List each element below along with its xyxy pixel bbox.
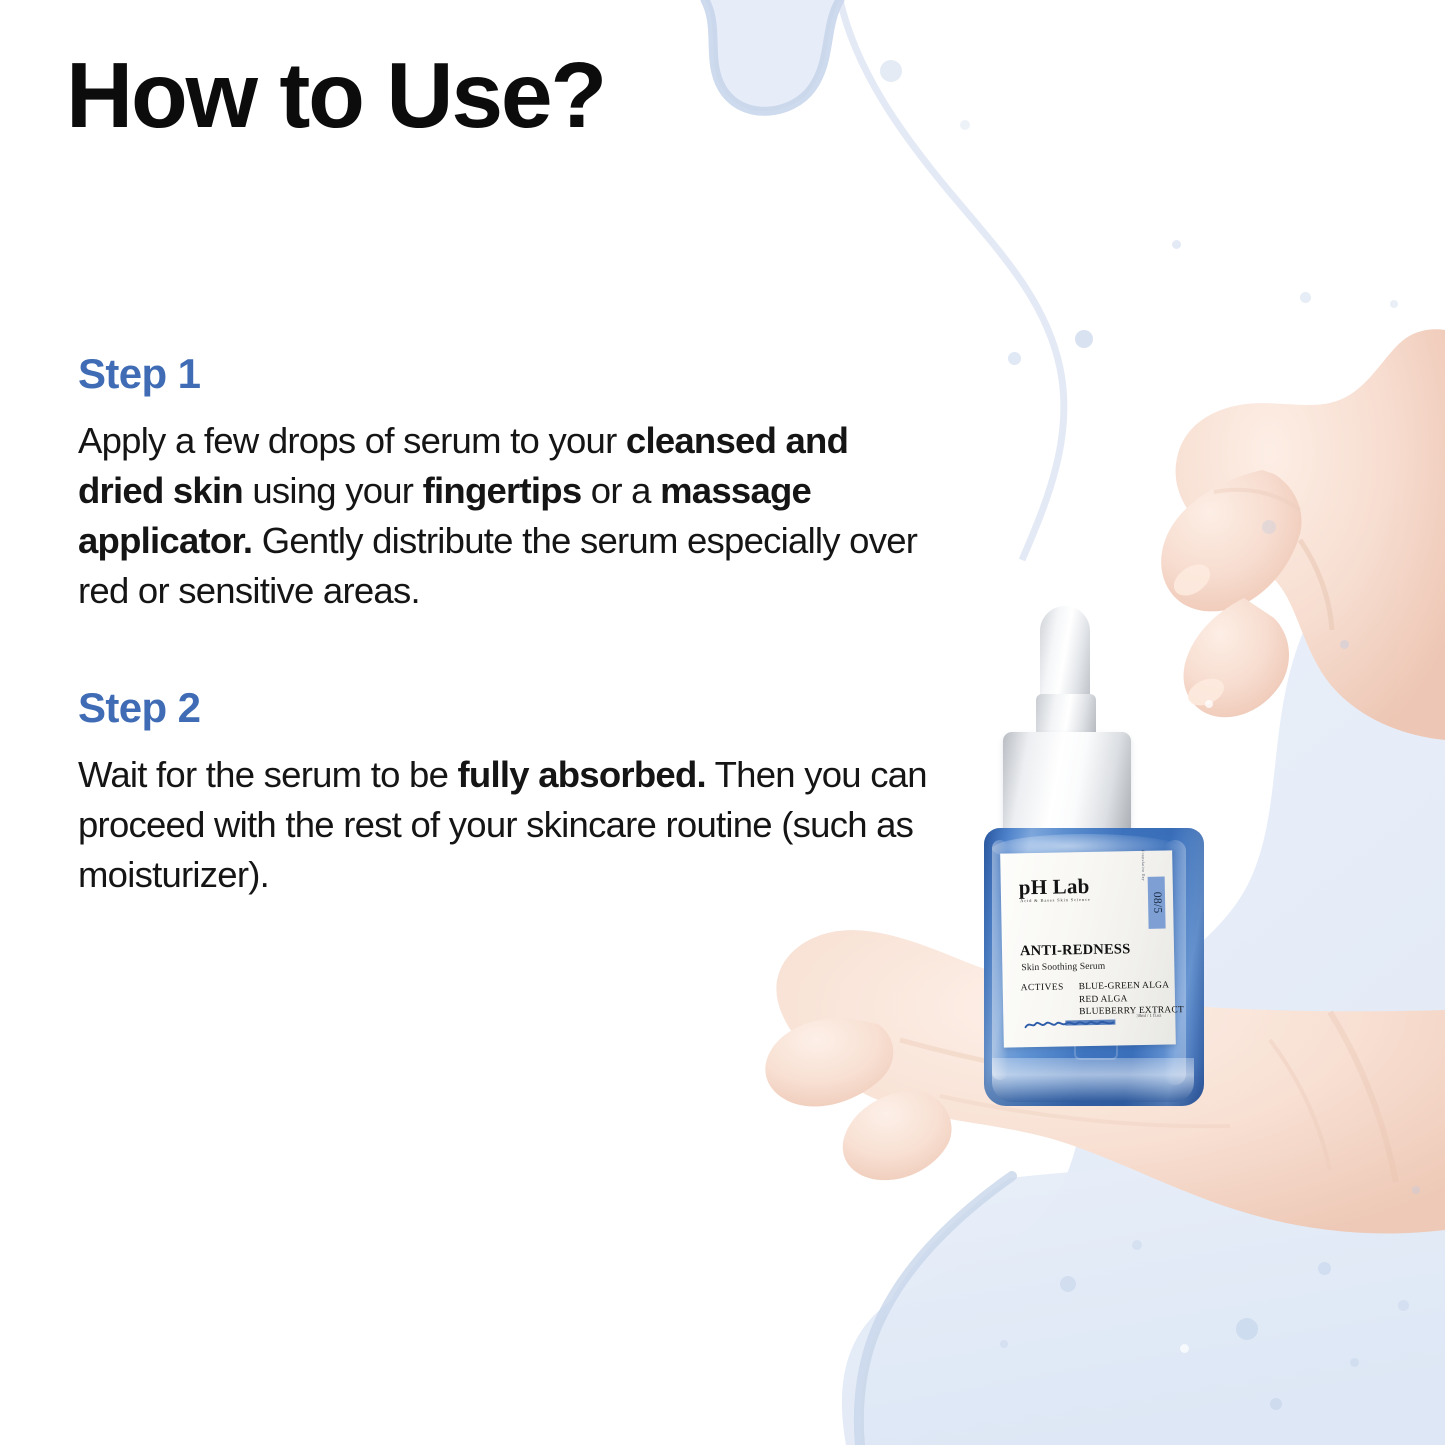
active-ingredient: BLUEBERRY EXTRACT [1079, 1004, 1184, 1019]
date-code-text: 08/5 [1150, 892, 1162, 914]
step-1-block: Step 1 Apply a few drops of serum to you… [78, 350, 928, 616]
signature-mark [1023, 1017, 1118, 1030]
gel-bubble [1390, 300, 1398, 308]
date-code-caption: Formulation Day [1141, 850, 1146, 881]
product-name: ANTI-REDNESS [1020, 941, 1131, 960]
gel-bubble [1008, 352, 1021, 365]
step-2-block: Step 2 Wait for the serum to be fully ab… [78, 684, 928, 900]
bottle-base-highlight [992, 1058, 1194, 1102]
step-1-text-part-bold: fingertips [423, 470, 582, 511]
step-1-body: Apply a few drops of serum to your clean… [78, 416, 928, 616]
active-ingredient: BLUE-GREEN ALGA [1079, 979, 1184, 994]
step-2-text-part-bold: fully absorbed. [458, 754, 706, 795]
gel-bubble [1172, 240, 1181, 249]
gel-bubble [880, 60, 902, 82]
step-2-body: Wait for the serum to be fully absorbed.… [78, 750, 928, 900]
gel-bubble [1000, 1340, 1008, 1348]
step-2-text-part: Wait for the serum to be [78, 754, 458, 795]
gel-bubble [1240, 180, 1247, 187]
gel-bubble [1412, 1186, 1420, 1194]
how-to-use-product-graphic: How to Use? Step 1 Apply a few drops of … [0, 0, 1445, 1445]
gel-bubble [960, 120, 970, 130]
step-1-text-part: or a [581, 470, 660, 511]
gel-bubble [1318, 1262, 1331, 1275]
volume-text: 30ml / 1 fl.oz [1136, 1013, 1161, 1018]
step-2-title: Step 2 [78, 684, 928, 732]
page-title: How to Use? [66, 48, 605, 143]
gel-bubble [1350, 1358, 1359, 1367]
step-1-text-part: using your [243, 470, 423, 511]
gel-bubble [1130, 430, 1140, 440]
gel-bubble [1270, 1398, 1282, 1410]
date-code-tab: 08/5 [1148, 877, 1166, 929]
actives-list: BLUE-GREEN ALGA RED ALGA BLUEBERRY EXTRA… [1079, 979, 1184, 1019]
product-bottle: pH Lab Acid & Bases Skin Science 08/5 Fo… [978, 606, 1210, 1106]
actives-label: ACTIVES [1021, 982, 1064, 993]
product-subtitle: Skin Soothing Serum [1021, 961, 1105, 974]
gel-bubble [1398, 1300, 1409, 1311]
product-label: pH Lab Acid & Bases Skin Science 08/5 Fo… [1000, 850, 1176, 1047]
gel-bubble [1236, 1318, 1258, 1340]
gel-bubble [1180, 1344, 1189, 1353]
gel-bubble [1300, 292, 1311, 303]
gel-bubble [1060, 1276, 1076, 1292]
gel-bubble [1340, 640, 1349, 649]
gel-bubble [1075, 330, 1093, 348]
gel-bubble [1132, 1240, 1142, 1250]
dropper-cap [1003, 732, 1131, 840]
step-1-title: Step 1 [78, 350, 928, 398]
step-1-text-part: Apply a few drops of serum to your [78, 420, 626, 461]
brand-tagline: Acid & Bases Skin Science [1020, 897, 1091, 903]
gel-bubble [1262, 520, 1276, 534]
